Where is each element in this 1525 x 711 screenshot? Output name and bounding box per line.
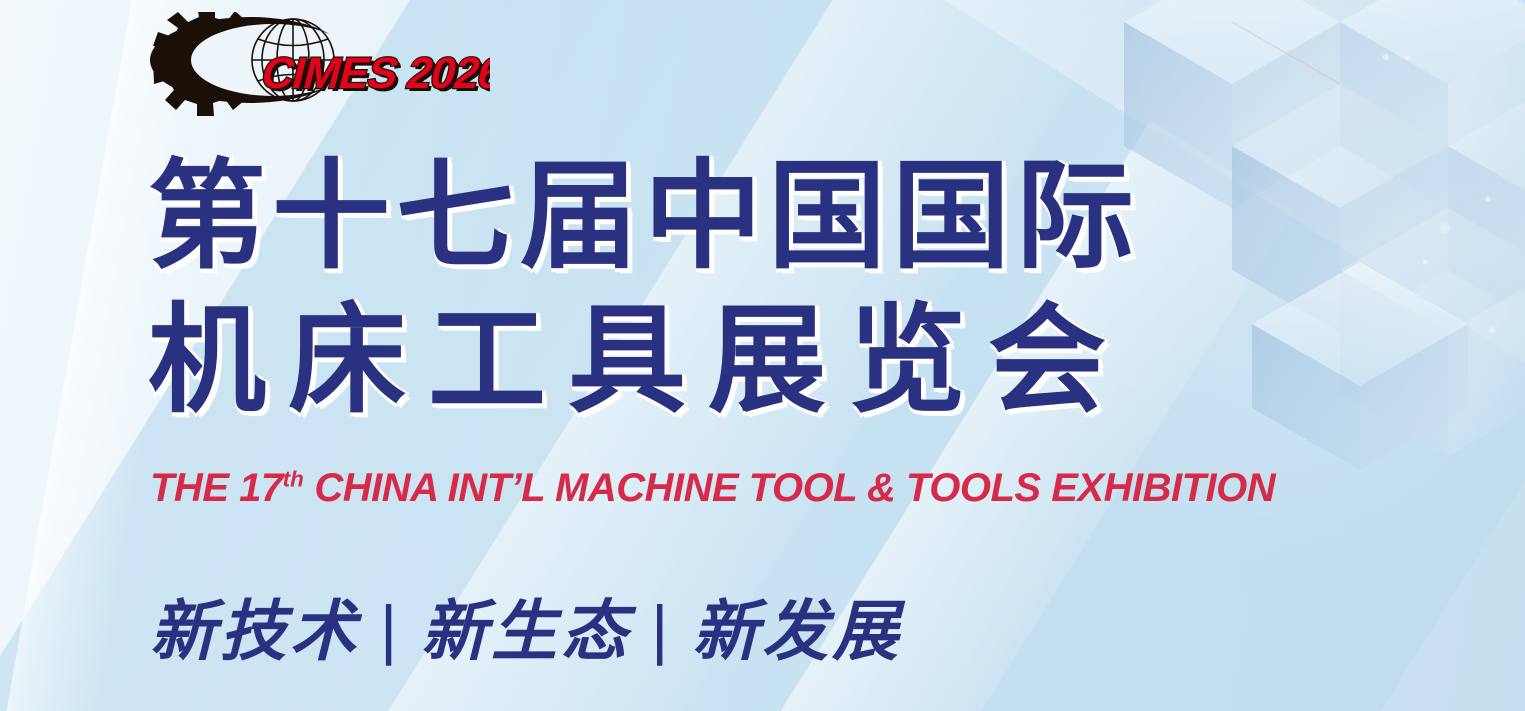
english-subtitle: THE 17th CHINA INT’L MACHINE TOOL & TOOL… xyxy=(150,466,1275,511)
svg-text:CIMES 2026: CIMES 2026 xyxy=(257,50,490,98)
slogan-item-1: 新技术 xyxy=(150,594,360,668)
slogan-item-2: 新生态 xyxy=(421,594,631,668)
english-subtitle-rest: CHINA INT’L MACHINE TOOL & TOOLS EXHIBIT… xyxy=(304,466,1275,510)
english-subtitle-ordinal: th xyxy=(283,467,304,492)
headline-block: 第十七届中国国际 机床工具展览会 xyxy=(148,146,1238,434)
english-subtitle-prefix: THE 17 xyxy=(150,466,283,510)
slogan-line: 新技术|新生态|新发展 xyxy=(150,578,902,674)
slogan-separator-1: | xyxy=(360,591,421,667)
slogan-item-3: 新发展 xyxy=(692,594,902,668)
title-line-1: 第十七届中国国际 xyxy=(148,146,1238,290)
title-line-2: 机床工具展览会 xyxy=(148,290,1238,434)
cimes-2026-banner: CIMES 2026 CIMES 2026 第十七届中国国际 机床工具展览会 T… xyxy=(0,0,1525,711)
cimes-logo: CIMES 2026 CIMES 2026 xyxy=(145,12,490,117)
logo-wordmark: CIMES 2026 CIMES 2026 xyxy=(256,50,490,101)
slogan-separator-2: | xyxy=(631,591,692,667)
